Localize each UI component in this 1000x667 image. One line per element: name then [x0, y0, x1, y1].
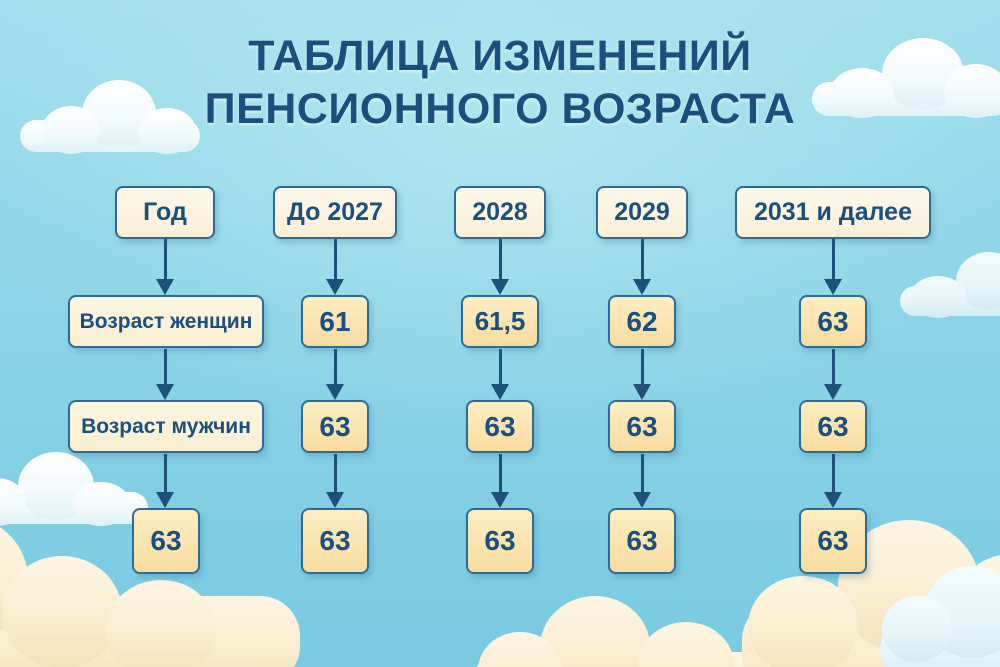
value-final-2029[interactable]: 63	[608, 508, 676, 574]
value-men-2031-and-later[interactable]: 63	[799, 400, 867, 453]
value-men-2028[interactable]: 63	[466, 400, 534, 453]
header-cell-before-2027[interactable]: До 2027	[273, 186, 397, 239]
row-label-men[interactable]: Возраст мужчин	[68, 400, 264, 453]
infographic-canvas: Таблица изменений Пенсионного возраста	[0, 0, 1000, 667]
value-men-2029[interactable]: 63	[608, 400, 676, 453]
header-cell-year[interactable]: Год	[115, 186, 215, 239]
header-cell-2031-and-later[interactable]: 2031 и далее	[735, 186, 931, 239]
value-women-2031-and-later[interactable]: 63	[799, 295, 867, 348]
header-cell-2028[interactable]: 2028	[454, 186, 546, 239]
header-cell-2029[interactable]: 2029	[596, 186, 688, 239]
value-women-before-2027[interactable]: 61	[301, 295, 369, 348]
value-final-year[interactable]: 63	[132, 508, 200, 574]
value-final-2031-and-later[interactable]: 63	[799, 508, 867, 574]
value-women-2028[interactable]: 61,5	[461, 295, 539, 348]
value-final-before-2027[interactable]: 63	[301, 508, 369, 574]
value-women-2029[interactable]: 62	[608, 295, 676, 348]
value-final-2028[interactable]: 63	[466, 508, 534, 574]
row-label-women[interactable]: Возраст женщин	[68, 295, 264, 348]
value-men-before-2027[interactable]: 63	[301, 400, 369, 453]
